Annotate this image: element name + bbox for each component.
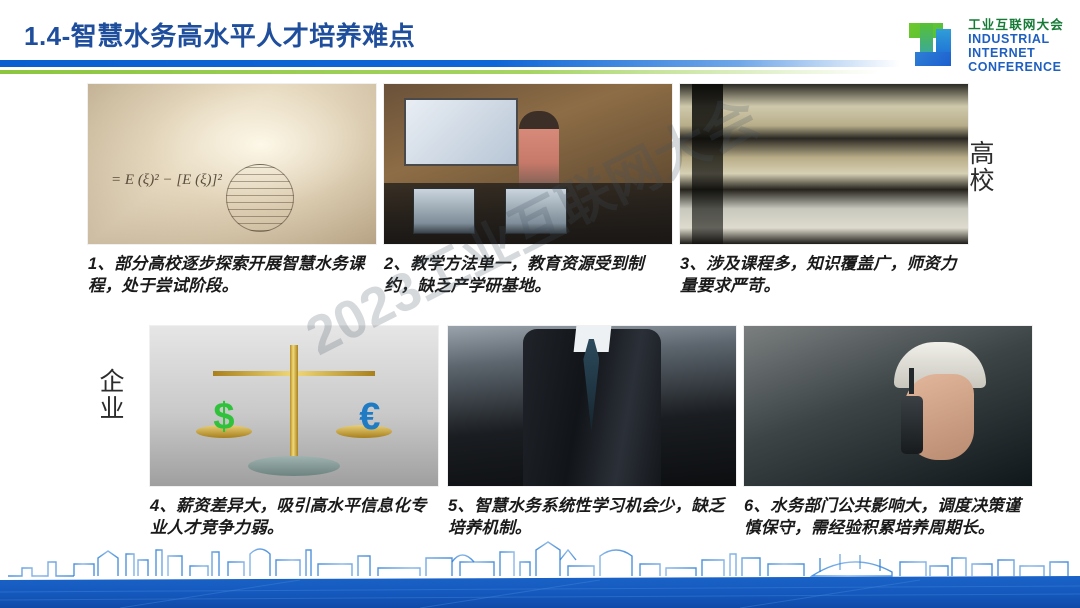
conference-logo: 工业互联网大会 INDUSTRIAL INTERNET CONFERENCE	[905, 18, 1064, 74]
logo-english-line-1: INDUSTRIAL	[968, 32, 1064, 46]
math-formulas-photo	[88, 84, 376, 244]
card-4-caption: 4、薪资差异大，吸引高水平信息化专业人才竞争力弱。	[150, 496, 438, 540]
classroom-teaching-photo	[384, 84, 672, 244]
title-divider-blue	[0, 60, 900, 67]
card-5-caption: 5、智慧水务系统性学习机会少，缺乏培养机制。	[448, 496, 736, 540]
group-label-enterprises: 企业	[96, 368, 124, 422]
conference-logo-icon	[905, 19, 959, 73]
card-2-caption: 2、教学方法单一，教育资源受到制约，缺乏产学研基地。	[384, 254, 672, 298]
slide: 1.4-智慧水务高水平人才培养难点 工业互联网大会 INDUSTRIAL INT…	[0, 0, 1080, 608]
logo-english-line-2: INTERNET	[968, 46, 1064, 60]
balance-scale-dollar-euro-photo: $ €	[150, 326, 438, 486]
businessman-suit-photo	[448, 326, 736, 486]
footer-skyline	[0, 536, 1080, 608]
library-bookshelf-photo	[680, 84, 968, 244]
field-worker-radio-photo	[744, 326, 1032, 486]
card-4: $ € 4、薪资差异大，吸引高水平信息化专业人才竞争力弱。	[150, 326, 438, 540]
card-1: 1、部分高校逐步探索开展智慧水务课程，处于尝试阶段。	[88, 84, 376, 298]
card-3: 3、涉及课程多，知识覆盖广，师资力量要求严苛。	[680, 84, 968, 298]
card-5: 5、智慧水务系统性学习机会少，缺乏培养机制。	[448, 326, 736, 540]
card-3-caption: 3、涉及课程多，知识覆盖广，师资力量要求严苛。	[680, 254, 968, 298]
card-1-caption: 1、部分高校逐步探索开展智慧水务课程，处于尝试阶段。	[88, 254, 376, 298]
card-6: 6、水务部门公共影响大，调度决策谨慎保守，需经验积累培养周期长。	[744, 326, 1032, 540]
title-divider-green	[0, 70, 880, 74]
logo-chinese-name: 工业互联网大会	[968, 18, 1064, 32]
logo-english-line-3: CONFERENCE	[968, 60, 1064, 74]
group-label-universities: 高校	[966, 140, 994, 194]
page-title: 1.4-智慧水务高水平人才培养难点	[24, 16, 415, 53]
card-6-caption: 6、水务部门公共影响大，调度决策谨慎保守，需经验积累培养周期长。	[744, 496, 1032, 540]
card-2: 2、教学方法单一，教育资源受到制约，缺乏产学研基地。	[384, 84, 672, 298]
difficulty-card-grid: 1、部分高校逐步探索开展智慧水务课程，处于尝试阶段。 2、教学方法单一，教育资源…	[0, 84, 1080, 544]
conference-logo-text: 工业互联网大会 INDUSTRIAL INTERNET CONFERENCE	[968, 18, 1064, 74]
